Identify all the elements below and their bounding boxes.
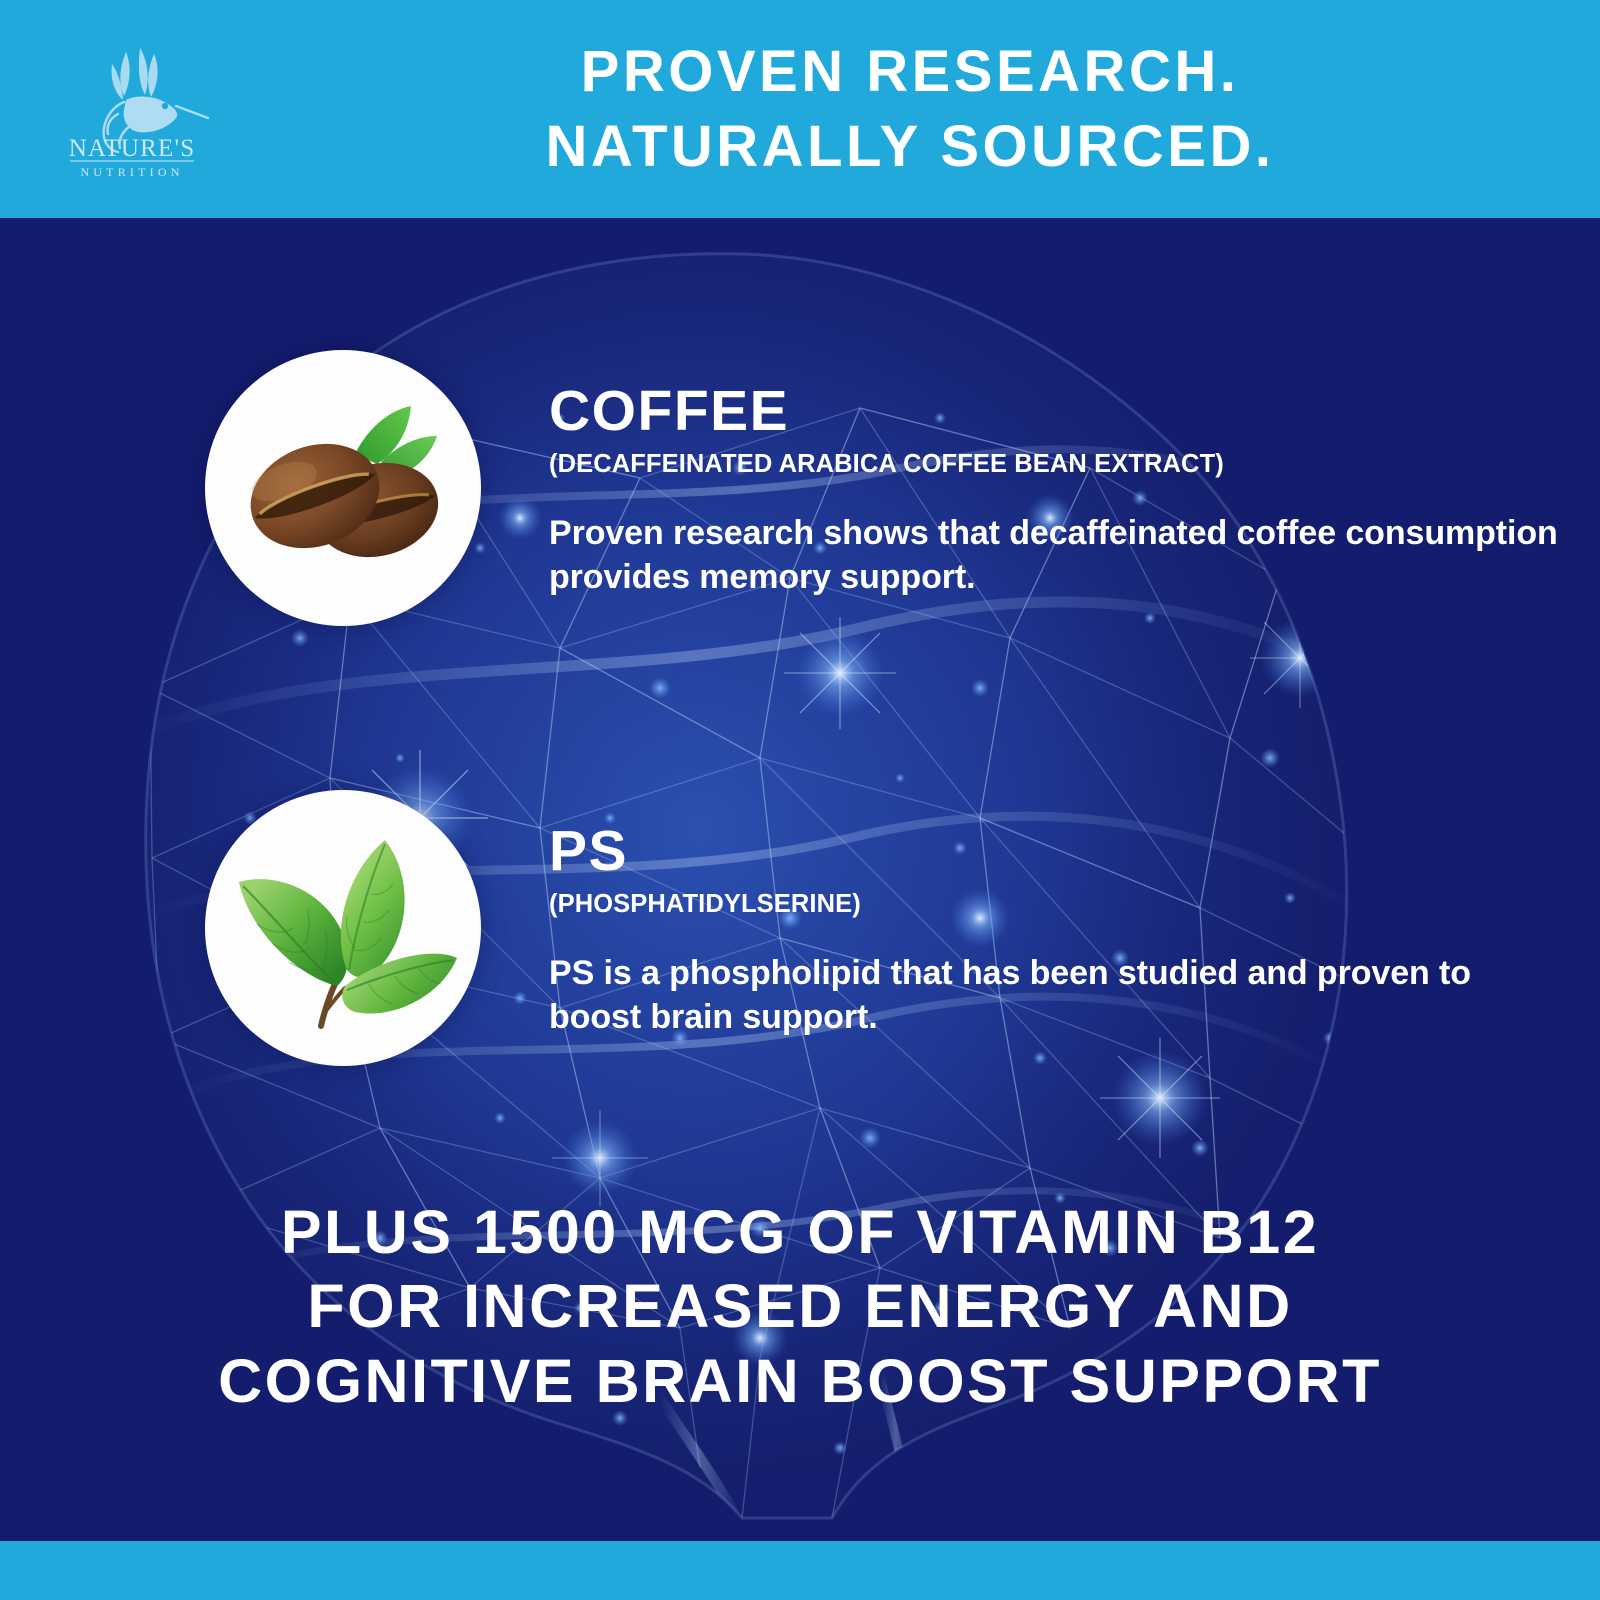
statement-line-2: FOR INCREASED ENERGY AND: [60, 1269, 1540, 1343]
green-leaves-icon: [205, 790, 481, 1066]
ingredient-name: PS: [549, 822, 1559, 880]
statement-line-3: COGNITIVE BRAIN BOOST SUPPORT: [60, 1344, 1540, 1418]
statement-line-1: PLUS 1500 MCG OF VITAMIN B12: [60, 1195, 1540, 1269]
ingredient-item-ps: PS (PHOSPHATIDYLSERINE) PS is a phosphol…: [205, 790, 1559, 1066]
ingredient-item-coffee: COFFEE (DECAFFEINATED ARABICA COFFEE BEA…: [205, 350, 1559, 626]
ingredient-subtitle: (DECAFFEINATED ARABICA COFFEE BEAN EXTRA…: [549, 450, 1559, 479]
ingredient-text-coffee: COFFEE (DECAFFEINATED ARABICA COFFEE BEA…: [549, 350, 1559, 600]
page-title: PROVEN RESEARCH. NATURALLY SOURCED.: [250, 34, 1570, 185]
ingredient-text-ps: PS (PHOSPHATIDYLSERINE) PS is a phosphol…: [549, 790, 1559, 1040]
footer-band: [0, 1541, 1600, 1600]
coffee-beans-icon: [205, 350, 481, 626]
bottom-statement: PLUS 1500 MCG OF VITAMIN B12 FOR INCREAS…: [60, 1195, 1540, 1418]
header-band: NATURE'S NUTRITION PROVEN RESEARCH. NATU…: [0, 0, 1600, 218]
svg-text:NATURE'S: NATURE'S: [69, 135, 196, 162]
infographic-canvas: NATURE'S NUTRITION PROVEN RESEARCH. NATU…: [0, 0, 1600, 1600]
brand-logo[interactable]: NATURE'S NUTRITION: [52, 40, 212, 180]
ingredient-description: PS is a phospholipid that has been studi…: [549, 951, 1559, 1039]
headline-line-1: PROVEN RESEARCH.: [250, 34, 1570, 109]
ingredient-name: COFFEE: [549, 382, 1559, 440]
headline-line-2: NATURALLY SOURCED.: [250, 109, 1570, 184]
ingredient-subtitle: (PHOSPHATIDYLSERINE): [549, 890, 1559, 919]
svg-text:NUTRITION: NUTRITION: [80, 165, 183, 179]
ingredient-description: Proven research shows that decaffeinated…: [549, 511, 1559, 599]
